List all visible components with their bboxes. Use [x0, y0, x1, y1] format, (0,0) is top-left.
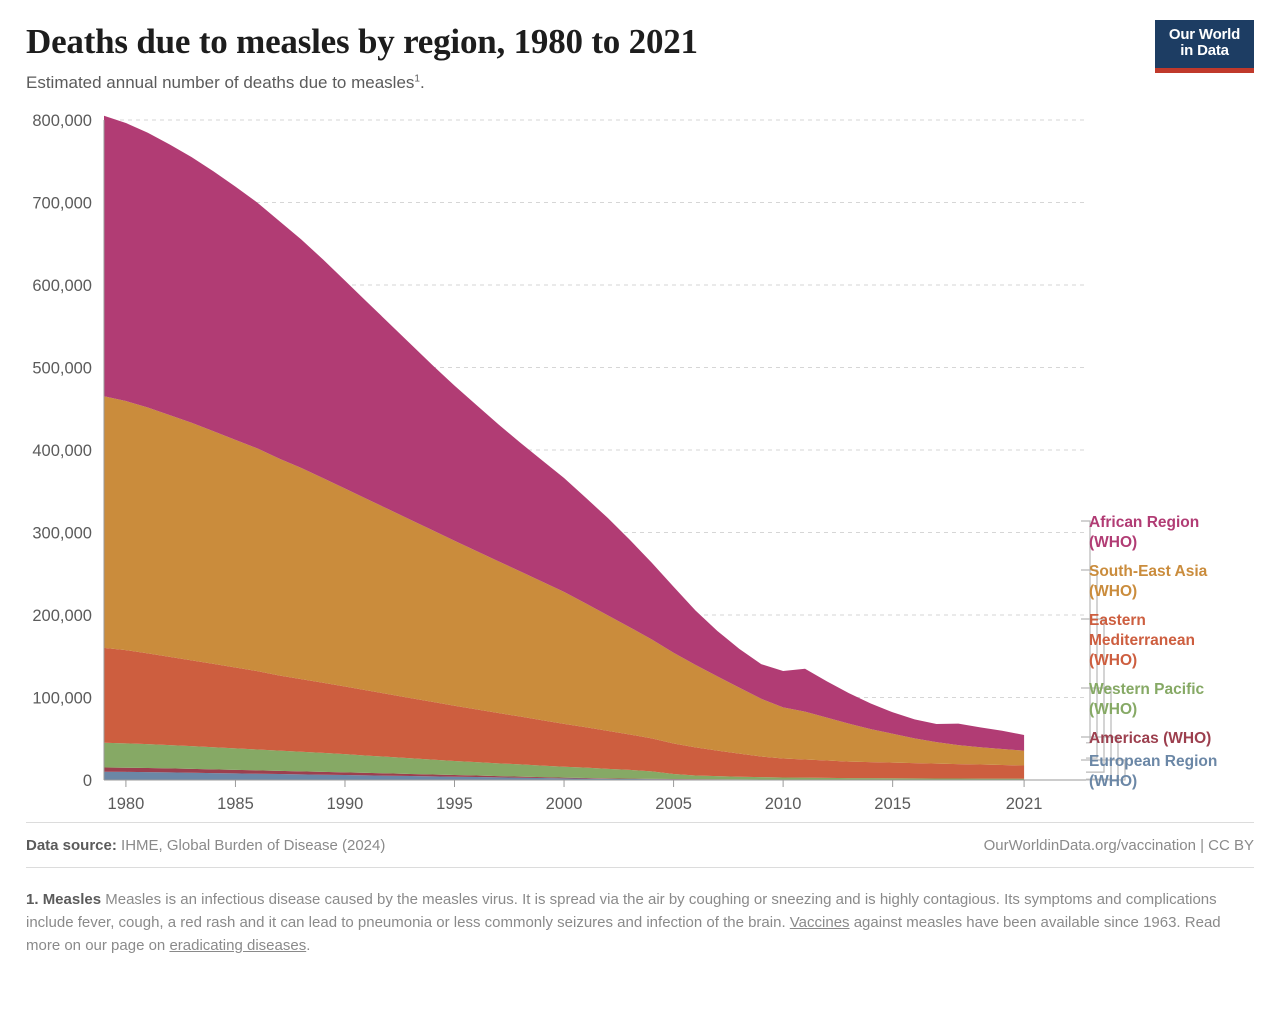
footnote-term: Measles — [43, 891, 101, 908]
stacked-area-chart[interactable]: 0100,000200,000300,000400,000500,000600,… — [26, 112, 1254, 822]
legend-entry-americas[interactable]: Americas (WHO) — [1089, 730, 1211, 747]
y-tick-label: 400,000 — [32, 442, 92, 460]
legend-label: (WHO) — [1089, 534, 1137, 551]
legend-label: South-East Asia — [1089, 563, 1208, 580]
legend-label: (WHO) — [1089, 701, 1137, 718]
chart-page: Deaths due to measles by region, 1980 to… — [0, 0, 1280, 1019]
y-tick-label: 500,000 — [32, 359, 92, 377]
logo-line-2: in Data — [1155, 43, 1254, 59]
logo-line-1: Our World — [1155, 27, 1254, 43]
x-tick-label: 2000 — [546, 795, 583, 813]
owid-logo[interactable]: Our World in Data — [1155, 20, 1254, 73]
data-source-label: Data source: — [26, 837, 117, 854]
chart-legend[interactable]: African Region(WHO)South-East Asia(WHO)E… — [1089, 514, 1217, 790]
y-axis-tick-labels: 0100,000200,000300,000400,000500,000600,… — [32, 112, 92, 790]
x-tick-label: 1985 — [217, 795, 254, 813]
y-tick-label: 200,000 — [32, 607, 92, 625]
legend-label: Eastern — [1089, 612, 1146, 629]
x-tick-label: 1980 — [108, 795, 145, 813]
data-source: Data source: IHME, Global Burden of Dise… — [26, 837, 385, 854]
legend-label: (WHO) — [1089, 773, 1137, 790]
chart-footer: Data source: IHME, Global Burden of Dise… — [26, 823, 1254, 867]
y-tick-label: 700,000 — [32, 194, 92, 212]
legend-label: (WHO) — [1089, 652, 1137, 669]
chart-header: Deaths due to measles by region, 1980 to… — [26, 0, 1254, 94]
legend-label: European Region — [1089, 753, 1217, 770]
x-axis-tick-labels: 198019851990199520002005201020152021 — [108, 795, 1043, 813]
footnotes: 1. Measles Measles is an infectious dise… — [26, 868, 1254, 958]
x-tick-label: 2015 — [874, 795, 911, 813]
footnote-text-3: . — [306, 937, 310, 954]
y-tick-label: 300,000 — [32, 524, 92, 542]
legend-entry-south_east_asia[interactable]: South-East Asia(WHO) — [1089, 563, 1208, 600]
subtitle-text: Estimated annual number of deaths due to… — [26, 73, 414, 92]
chart-series-areas[interactable] — [104, 115, 1024, 779]
data-source-value: IHME, Global Burden of Disease (2024) — [121, 837, 385, 854]
subtitle-suffix: . — [420, 73, 425, 92]
legend-label: Western Pacific — [1089, 681, 1205, 698]
eradicating-diseases-link[interactable]: eradicating diseases — [169, 937, 306, 954]
legend-entry-african[interactable]: African Region(WHO) — [1089, 514, 1199, 551]
footnote-number: 1. — [26, 891, 39, 908]
x-tick-label: 1995 — [436, 795, 473, 813]
legend-label: Mediterranean — [1089, 632, 1195, 649]
vaccines-link[interactable]: Vaccines — [790, 914, 850, 931]
x-tick-label: 2010 — [765, 795, 802, 813]
legend-label: African Region — [1089, 514, 1199, 531]
y-tick-label: 800,000 — [32, 112, 92, 130]
x-tick-label: 2005 — [655, 795, 692, 813]
y-tick-label: 100,000 — [32, 689, 92, 707]
legend-entry-western_pacific[interactable]: Western Pacific(WHO) — [1089, 681, 1205, 718]
legend-label: Americas (WHO) — [1089, 730, 1211, 747]
legend-entry-european[interactable]: European Region(WHO) — [1089, 753, 1217, 790]
page-title: Deaths due to measles by region, 1980 to… — [26, 22, 1254, 63]
attribution[interactable]: OurWorldinData.org/vaccination | CC BY — [984, 837, 1254, 854]
y-tick-label: 600,000 — [32, 277, 92, 295]
x-tick-label: 1990 — [327, 795, 364, 813]
y-tick-label: 0 — [83, 772, 92, 790]
chart-area[interactable]: 0100,000200,000300,000400,000500,000600,… — [26, 112, 1254, 822]
legend-entry-eastern_mediterranean[interactable]: EasternMediterranean(WHO) — [1089, 612, 1195, 669]
legend-label: (WHO) — [1089, 583, 1137, 600]
chart-subtitle: Estimated annual number of deaths due to… — [26, 72, 1254, 94]
x-tick-label: 2021 — [1006, 795, 1043, 813]
